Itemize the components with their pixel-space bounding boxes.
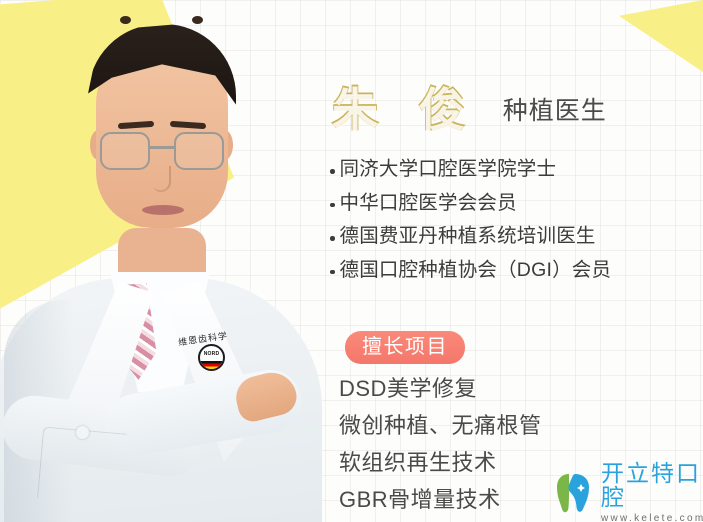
doctor-role: 种植医生 <box>503 91 607 132</box>
doctor-name: 朱 俊 <box>332 86 479 132</box>
credential-text: 德国费亚丹种植系统培训医生 <box>340 227 596 247</box>
bullet-dot-icon <box>330 169 335 174</box>
credential-item: 德国费亚丹种植系统培训医生 <box>330 227 702 247</box>
brand-logo: 开立特口腔 ® www.kelete.com <box>553 461 703 522</box>
portrait-eye-left <box>120 16 131 24</box>
bullet-dot-icon <box>330 270 335 275</box>
tooth-logo-icon <box>553 472 593 514</box>
coat-badge-flag <box>200 361 223 369</box>
bullet-dot-icon <box>330 236 335 241</box>
specialty-item: 软组织再生技术 <box>339 452 542 474</box>
brand-text-block: 开立特口腔 ® www.kelete.com <box>601 461 703 522</box>
credential-item: 德国口腔种植协会（DGI）会员 <box>330 261 702 281</box>
coat-badge-seal-text: NORD <box>204 351 220 357</box>
portrait-nose <box>154 166 171 192</box>
doctor-info-panel: 朱 俊 种植医生 同济大学口腔医学院学士 中华口腔医学会会员 德国费亚丹种植系统… <box>322 0 703 522</box>
brand-name: 开立特口腔 <box>601 461 703 509</box>
credential-item: 同济大学口腔医学院学士 <box>330 160 702 180</box>
credential-text: 德国口腔种植协会（DGI）会员 <box>340 261 612 281</box>
bullet-dot-icon <box>330 203 335 208</box>
specialty-item: GBR骨增量技术 <box>339 489 542 511</box>
portrait-eyebrows <box>118 122 206 129</box>
portrait-eye-right <box>192 16 203 24</box>
credential-text: 中华口腔医学会会员 <box>340 194 517 214</box>
credential-item: 中华口腔医学会会员 <box>330 194 702 214</box>
doctor-profile-card: 维恩齿科学 NORD 朱 俊 种植医生 同济大学口腔医学院学士 中华口腔医学会会… <box>0 0 703 522</box>
specialties-badge: 擅长项目 <box>345 331 465 364</box>
coat-chest-badge: 维恩齿科学 NORD <box>178 330 240 378</box>
glasses-lens-left <box>100 132 150 170</box>
specialty-item: 微创种植、无痛根管 <box>339 415 542 437</box>
glasses-lens-right <box>174 132 224 170</box>
doctor-name-row: 朱 俊 种植医生 <box>332 86 607 132</box>
portrait-mouth <box>142 205 184 215</box>
glasses-bridge <box>150 146 174 149</box>
specialty-item: DSD美学修复 <box>339 378 542 400</box>
specialties-list: DSD美学修复 微创种植、无痛根管 软组织再生技术 GBR骨增量技术 <box>339 378 542 522</box>
doctor-portrait: 维恩齿科学 NORD <box>0 0 320 522</box>
credential-text: 同济大学口腔医学院学士 <box>340 160 557 180</box>
credentials-list: 同济大学口腔医学院学士 中华口腔医学会会员 德国费亚丹种植系统培训医生 德国口腔… <box>330 160 702 294</box>
portrait-coat-button <box>76 426 89 439</box>
coat-badge-seal: NORD <box>198 344 225 371</box>
brand-url: www.kelete.com <box>601 513 703 522</box>
